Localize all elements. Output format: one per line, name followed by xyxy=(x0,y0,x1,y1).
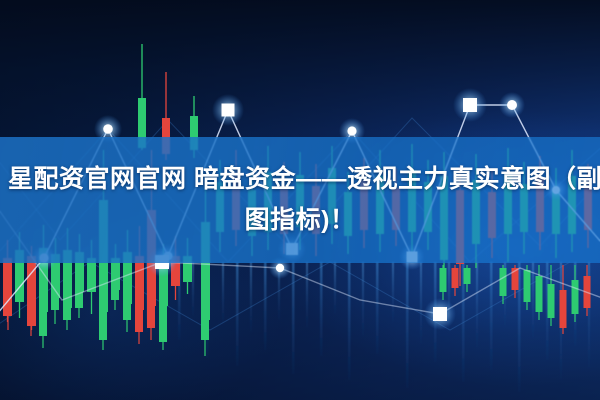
candle xyxy=(452,265,459,296)
candle xyxy=(111,265,119,310)
candle xyxy=(536,265,543,320)
candle xyxy=(159,265,167,350)
candle xyxy=(75,265,83,318)
candle xyxy=(138,44,146,150)
banner-title-line-2: 图指标)！ xyxy=(245,200,356,241)
stock-banner-image: 星配资官网官网 暗盘资金——透视主力真实意图（副 图指标)！ xyxy=(0,0,600,400)
volume-bars xyxy=(146,262,590,392)
headline-band-content: 星配资官网官网 暗盘资金——透视主力真实意图（副 图指标)！ xyxy=(0,137,600,263)
banner-title-line-1: 星配资官网官网 暗盘资金——透视主力真实意图（副 xyxy=(0,159,600,200)
headline-band: 星配资官网官网 暗盘资金——透视主力真实意图（副 图指标)！ xyxy=(0,137,600,263)
candle xyxy=(572,265,579,322)
candle xyxy=(99,265,107,350)
candle xyxy=(440,265,447,300)
candle xyxy=(464,265,471,292)
